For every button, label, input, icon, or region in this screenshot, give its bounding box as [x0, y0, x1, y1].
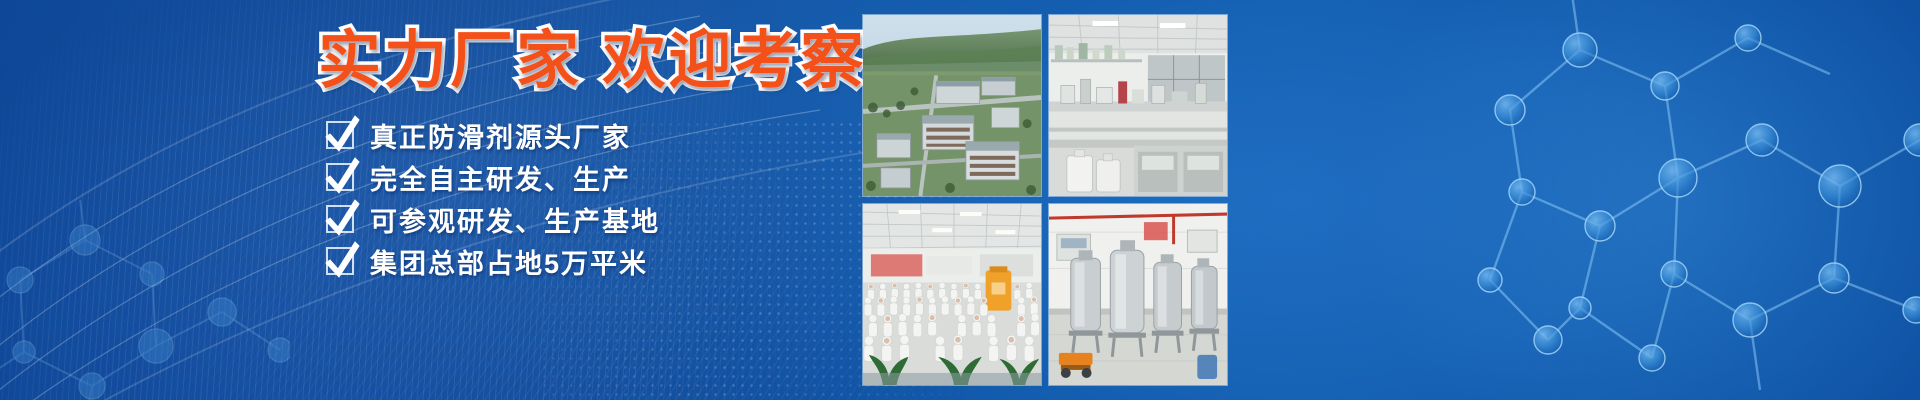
photo-grid	[862, 14, 1228, 386]
checkmark-icon	[326, 247, 354, 275]
photo-production-equipment	[1048, 203, 1228, 386]
feature-bullet-list: 真正防滑剂源头厂家 完全自主研发、生产 可参观研发、生产基地	[300, 114, 860, 282]
molecule-structure-right	[1430, 0, 1920, 400]
list-item-label: 真正防滑剂源头厂家	[370, 116, 631, 155]
checkmark-icon	[326, 121, 354, 149]
checkmark-icon	[326, 205, 354, 233]
list-item-label: 集团总部占地5万平米	[370, 242, 648, 281]
list-item-label: 完全自主研发、生产	[370, 158, 631, 197]
molecule-structure-left	[0, 200, 290, 400]
list-item: 完全自主研发、生产	[326, 156, 860, 198]
photo-factory-aerial	[862, 14, 1042, 197]
banner-text-block: 实力厂家 欢迎考察 真正防滑剂源头厂家 完全自主研发、生产	[300, 24, 860, 282]
list-item: 可参观研发、生产基地	[326, 198, 860, 240]
photo-staff-assembly	[862, 203, 1042, 386]
list-item-label: 可参观研发、生产基地	[370, 200, 660, 239]
promo-banner: 实力厂家 欢迎考察 真正防滑剂源头厂家 完全自主研发、生产	[0, 0, 1920, 400]
checkmark-icon	[326, 163, 354, 191]
list-item: 真正防滑剂源头厂家	[326, 114, 860, 156]
glow-highlight-right	[1220, 0, 1920, 400]
list-item: 集团总部占地5万平米	[326, 240, 860, 282]
banner-headline: 实力厂家 欢迎考察	[300, 24, 860, 98]
photo-laboratory	[1048, 14, 1228, 197]
